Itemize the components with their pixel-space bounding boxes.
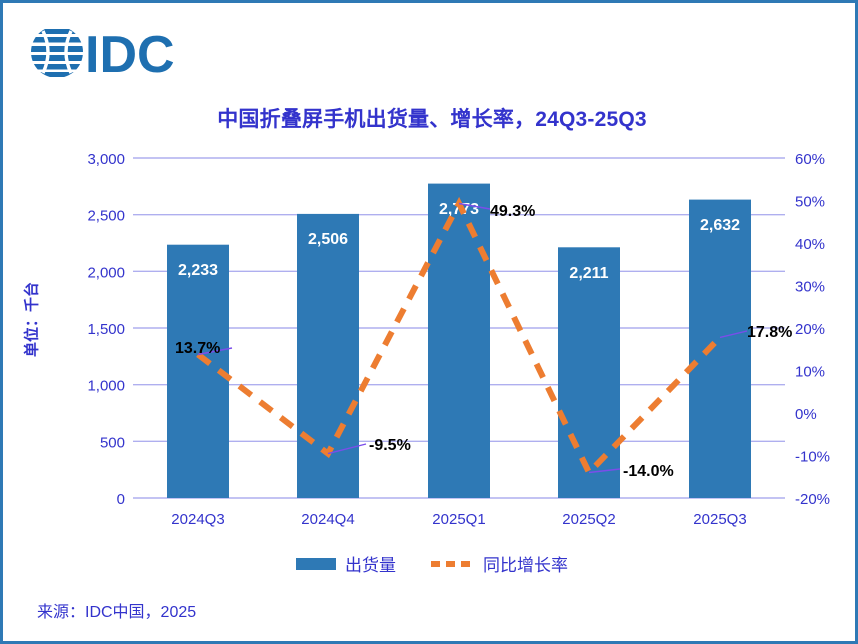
pct-label-2024Q4: -9.5%: [369, 437, 411, 454]
ytick-1000: 1,000: [87, 378, 125, 395]
bar-2025Q3[interactable]: [689, 200, 751, 498]
y2tick-10: 10%: [795, 364, 825, 381]
y2tick-40: 40%: [795, 236, 825, 253]
bar-2025Q1[interactable]: [428, 184, 490, 498]
ytick-0: 0: [117, 491, 125, 508]
ytick-2000: 2,000: [87, 264, 125, 281]
xtick-2025Q1: 2025Q1: [432, 511, 485, 528]
chart-plot-area: 3,000 2,500 2,000 1,500 1,000 500 0 60% …: [3, 3, 858, 644]
bar-label-2024Q4: 2,506: [308, 231, 348, 248]
ytick-2500: 2,500: [87, 208, 125, 225]
pct-label-2025Q2: -14.0%: [623, 463, 674, 480]
chart-page: IDC 中国折叠屏手机出货量、增长率，24Q3-25Q3 单位：千台 3,000…: [0, 0, 858, 644]
ytick-500: 500: [100, 434, 125, 451]
bar-2025Q2[interactable]: [558, 247, 620, 498]
y2tick-20: 20%: [795, 321, 825, 338]
y2tick-neg10: -10%: [795, 449, 830, 466]
y2tick-60: 60%: [795, 151, 825, 168]
y2tick-50: 50%: [795, 194, 825, 211]
xtick-2025Q2: 2025Q2: [562, 511, 615, 528]
y2tick-30: 30%: [795, 279, 825, 296]
pct-label-2024Q3: 13.7%: [175, 340, 220, 357]
legend-item-growth-rate[interactable]: 同比增长率: [430, 551, 568, 576]
legend-label-shipments: 出货量: [345, 551, 396, 576]
pct-label-2025Q3: 17.8%: [747, 324, 792, 341]
y2tick-neg20: -20%: [795, 491, 830, 508]
bar-label-2025Q3: 2,632: [700, 217, 740, 234]
chart-legend: 出货量 同比增长率: [3, 551, 858, 576]
legend-item-shipments[interactable]: 出货量: [296, 551, 396, 576]
left-axis-ticks: 3,000 2,500 2,000 1,500 1,000 500 0: [87, 151, 125, 508]
right-axis-ticks: 60% 50% 40% 30% 20% 10% 0% -10% -20%: [795, 151, 830, 508]
category-labels: 2024Q3 2024Q4 2025Q1 2025Q2 2025Q3: [171, 511, 746, 528]
xtick-2025Q3: 2025Q3: [693, 511, 746, 528]
legend-line-swatch: [430, 561, 474, 567]
ytick-1500: 1,500: [87, 321, 125, 338]
xtick-2024Q4: 2024Q4: [301, 511, 354, 528]
bar-label-2025Q2: 2,211: [569, 265, 608, 282]
ytick-3000: 3,000: [87, 151, 125, 168]
pct-label-2025Q1: 49.3%: [490, 203, 535, 220]
legend-label-growth-rate: 同比增长率: [483, 551, 568, 576]
source-note: 来源：IDC中国，2025: [37, 598, 196, 622]
y2tick-0: 0%: [795, 406, 817, 423]
legend-bar-swatch: [296, 558, 336, 570]
xtick-2024Q3: 2024Q3: [171, 511, 224, 528]
bar-label-2024Q3: 2,233: [178, 262, 218, 279]
bar-series: [167, 184, 751, 498]
